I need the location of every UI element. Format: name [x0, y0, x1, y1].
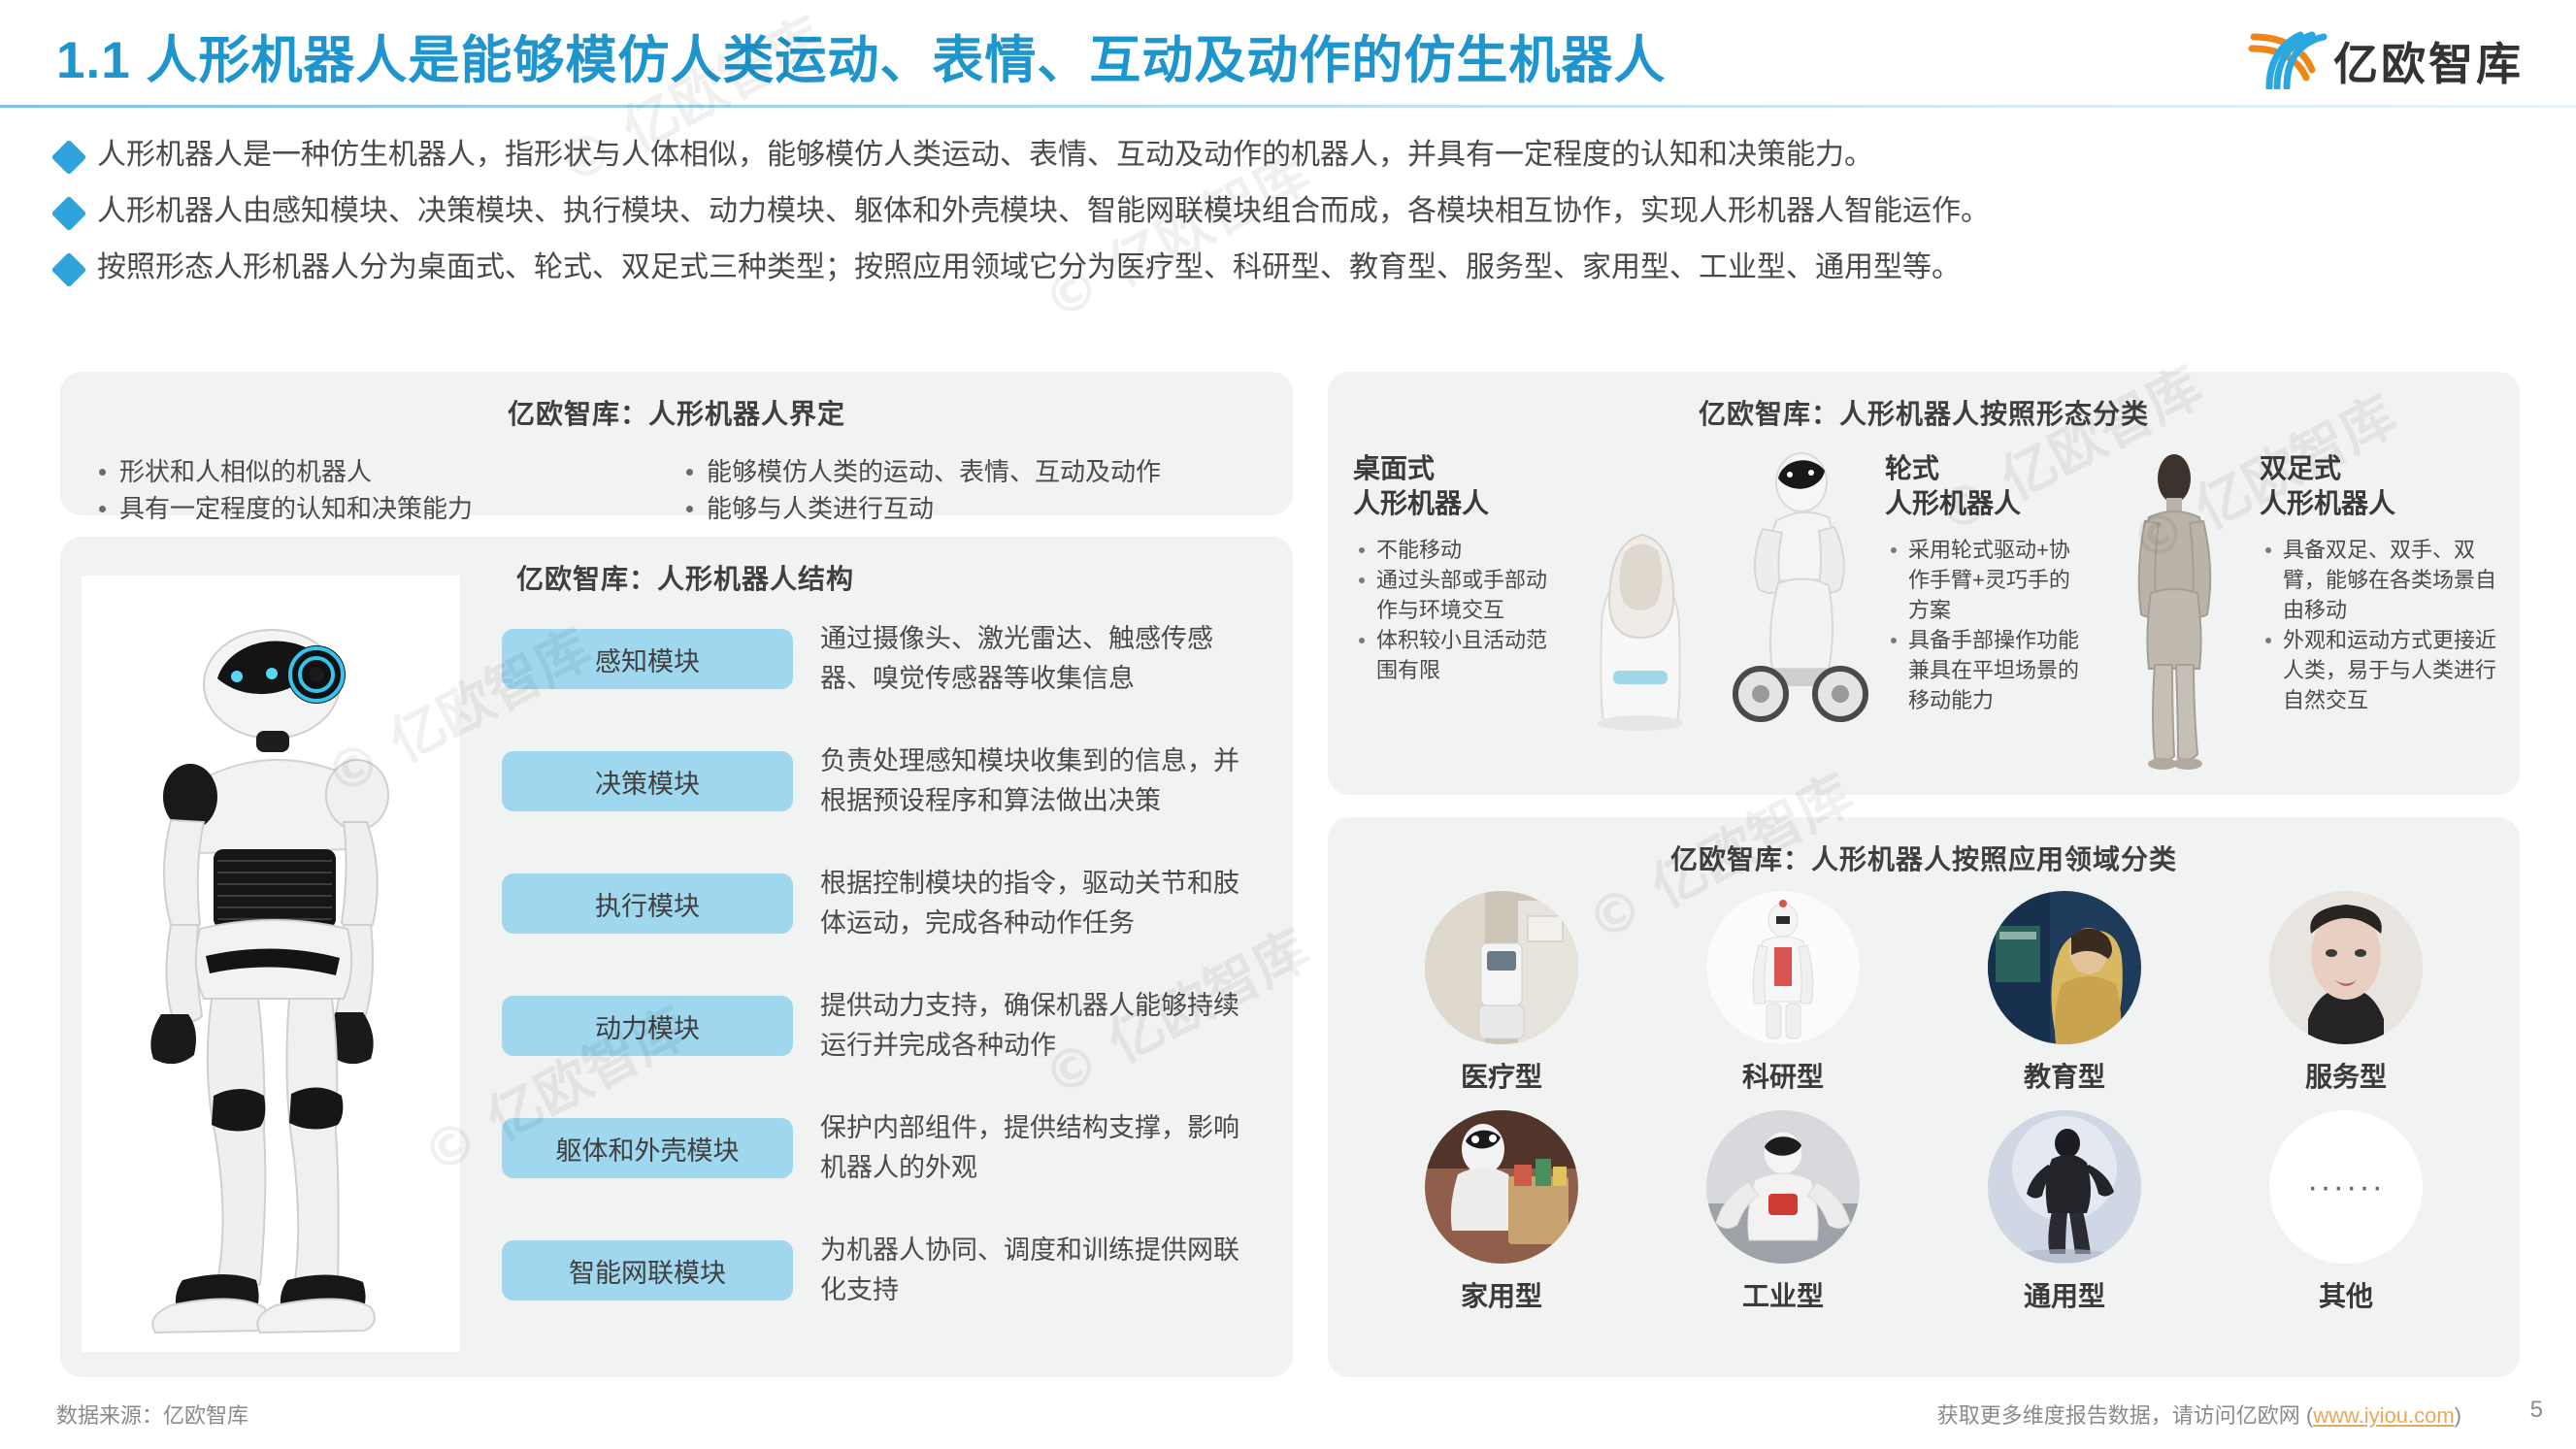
module-row: 感知模块 通过摄像头、激光雷达、触感传感器、嗅觉传感器等收集信息	[502, 619, 1264, 724]
footer-cta-suffix: )	[2455, 1403, 2461, 1428]
bullet-text: 按照形态人形机器人分为桌面式、轮式、双足式三种类型；按照应用领域它分为医疗型、科…	[97, 248, 1961, 287]
humanoid-robot-illustration	[82, 576, 460, 1352]
module-pill[interactable]: 躯体和外壳模块	[502, 1118, 793, 1178]
category-image-general	[1988, 1110, 2141, 1264]
list-item: 不能移动	[1353, 535, 1567, 565]
application-category-medical[interactable]: 医疗型	[1361, 891, 1642, 1095]
category-label: 教育型	[2024, 1056, 2105, 1095]
list-item: 能够与人类进行互动	[677, 490, 1264, 527]
iyiou-website-link[interactable]: www.iyiou.com	[2313, 1403, 2454, 1428]
module-row: 智能网联模块 为机器人协同、调度和训练提供网联化支持	[502, 1231, 1264, 1335]
structure-panel: 亿欧智库：人形机器人结构	[60, 537, 1293, 1377]
type-name-line2: 人形机器人	[1885, 486, 2089, 521]
category-label: 科研型	[1742, 1056, 1824, 1095]
page-title: 1.1 人形机器人是能够模仿人类运动、表情、互动及动作的仿生机器人	[56, 19, 1666, 93]
category-label: 医疗型	[1461, 1056, 1542, 1095]
dot-bullet-icon	[1891, 638, 1897, 643]
module-list: 感知模块 通过摄像头、激光雷达、触感传感器、嗅觉传感器等收集信息 决策模块 负责…	[502, 619, 1264, 1353]
category-image-medical	[1425, 891, 1578, 1044]
category-label: 服务型	[2305, 1056, 2387, 1095]
definition-item-text: 能够模仿人类的运动、表情、互动及动作	[707, 453, 1161, 490]
feature-text: 外观和运动方式更接近人类，易于与人类进行自然交互	[2283, 625, 2500, 715]
feature-text: 通过头部或手部动作与环境交互	[1376, 565, 1567, 625]
module-row: 动力模块 提供动力支持，确保机器人能够持续运行并完成各种动作	[502, 986, 1264, 1091]
list-item: 通过头部或手部动作与环境交互	[1353, 565, 1567, 625]
list-item: 人形机器人由感知模块、决策模块、执行模块、动力模块、躯体和外壳模块、智能网联模块…	[56, 192, 2541, 231]
header-divider	[0, 105, 2576, 108]
module-pill[interactable]: 感知模块	[502, 629, 793, 689]
application-category-education[interactable]: 教育型	[1924, 891, 2205, 1095]
category-image-industrial	[1706, 1110, 1860, 1264]
module-description: 根据控制模块的指令，驱动关节和肢体运动，完成各种动作任务	[820, 864, 1264, 943]
feature-text: 具备双足、双手、双臂，能够在各类场景自由移动	[2283, 535, 2500, 625]
module-description: 通过摄像头、激光雷达、触感传感器、嗅觉传感器等收集信息	[820, 619, 1264, 699]
module-row: 躯体和外壳模块 保护内部组件，提供结构支撑，影响机器人的外观	[502, 1108, 1264, 1213]
application-panel: 亿欧智库：人形机器人按照应用领域分类 医疗型	[1328, 817, 2520, 1377]
category-label: 通用型	[2024, 1275, 2105, 1314]
panel-title: 亿欧智库：人形机器人按照形态分类	[1328, 393, 2520, 432]
dot-bullet-icon	[99, 506, 106, 512]
panel-title: 亿欧智库：人形机器人按照应用领域分类	[1328, 839, 2520, 877]
diamond-bullet-icon	[51, 252, 87, 288]
list-item: 外观和运动方式更接近人类，易于与人类进行自然交互	[2260, 625, 2500, 715]
list-item: 体积较小且活动范围有限	[1353, 625, 1567, 685]
category-image-research	[1706, 891, 1860, 1044]
type-name-line1: 双足式	[2260, 451, 2500, 486]
morphology-panel: 亿欧智库：人形机器人按照形态分类 桌面式 人形机器人 不能移动 通过头部或手部动…	[1328, 372, 2520, 795]
module-pill[interactable]: 动力模块	[502, 996, 793, 1056]
diamond-bullet-icon	[51, 196, 87, 232]
definition-item-text: 形状和人相似的机器人	[119, 453, 372, 490]
list-item: 能够模仿人类的运动、表情、互动及动作	[677, 453, 1264, 490]
dot-bullet-icon	[1359, 638, 1365, 643]
category-label: 工业型	[1742, 1275, 1824, 1314]
dot-bullet-icon	[1359, 577, 1365, 583]
dot-bullet-icon	[2265, 547, 2271, 553]
application-category-research[interactable]: 科研型	[1642, 891, 1924, 1095]
category-label: 其他	[2319, 1275, 2373, 1314]
list-item: 采用轮式驱动+协作手臂+灵巧手的方案	[1885, 535, 2089, 625]
footer-cta-prefix: 获取更多维度报告数据，请访问亿欧网 (	[1937, 1403, 2313, 1428]
dot-bullet-icon	[2265, 638, 2271, 643]
logo-wordmark: 亿欧智库	[2333, 29, 2524, 93]
page-number: 5	[2530, 1397, 2543, 1424]
list-item: 具备双足、双手、双臂，能够在各类场景自由移动	[2260, 535, 2500, 625]
wheeled-robot-image	[1712, 440, 1885, 787]
module-description: 为机器人协同、调度和训练提供网联化支持	[820, 1231, 1264, 1310]
category-label: 家用型	[1461, 1275, 1542, 1314]
bullet-text: 人形机器人是一种仿生机器人，指形状与人体相似，能够模仿人类运动、表情、互动及动作…	[97, 136, 1873, 175]
definition-right-column: 能够模仿人类的运动、表情、互动及动作 能够与人类进行互动	[677, 453, 1264, 527]
intro-bullet-list: 人形机器人是一种仿生机器人，指形状与人体相似，能够模仿人类运动、表情、互动及动作…	[56, 136, 2541, 305]
feature-text: 体积较小且活动范围有限	[1376, 625, 1567, 685]
footer-cta: 获取更多维度报告数据，请访问亿欧网 (www.iyiou.com)	[1937, 1399, 2461, 1430]
application-category-other[interactable]: ······ 其他	[2205, 1110, 2487, 1314]
list-item: 具有一定程度的认知和决策能力	[89, 490, 677, 527]
module-description: 提供动力支持，确保机器人能够持续运行并完成各种动作	[820, 986, 1264, 1066]
data-source-note: 数据来源：亿欧智库	[56, 1399, 248, 1430]
dot-bullet-icon	[99, 469, 106, 476]
type-name-line2: 人形机器人	[1353, 486, 1567, 521]
dot-bullet-icon	[1891, 547, 1897, 553]
application-category-industrial[interactable]: 工业型	[1642, 1110, 1924, 1314]
category-image-education	[1988, 891, 2141, 1044]
dot-bullet-icon	[686, 506, 693, 512]
panel-title: 亿欧智库：人形机器人界定	[60, 393, 1293, 432]
application-category-general[interactable]: 通用型	[1924, 1110, 2205, 1314]
dot-bullet-icon	[1359, 547, 1365, 553]
category-image-home	[1425, 1110, 1578, 1264]
morphology-type-desktop: 桌面式 人形机器人 不能移动 通过头部或手部动作与环境交互 体积较小且活动范围有…	[1328, 440, 1567, 787]
application-category-home[interactable]: 家用型	[1361, 1110, 1642, 1314]
category-image-other: ······	[2269, 1110, 2423, 1264]
dot-bullet-icon	[686, 469, 693, 476]
list-item: 按照形态人形机器人分为桌面式、轮式、双足式三种类型；按照应用领域它分为医疗型、科…	[56, 248, 2541, 287]
application-category-service[interactable]: 服务型	[2205, 891, 2487, 1095]
list-item: 人形机器人是一种仿生机器人，指形状与人体相似，能够模仿人类运动、表情、互动及动作…	[56, 136, 2541, 175]
definition-item-text: 具有一定程度的认知和决策能力	[119, 490, 473, 527]
brand-logo: 亿欧智库	[2240, 23, 2531, 89]
type-name-line1: 轮式	[1885, 451, 2089, 486]
biped-robot-image	[2089, 440, 2260, 787]
module-description: 负责处理感知模块收集到的信息，并根据预设程序和算法做出决策	[820, 741, 1264, 821]
diamond-bullet-icon	[51, 140, 87, 176]
feature-text: 具备手部操作功能兼具在平坦场景的移动能力	[1908, 625, 2089, 715]
module-description: 保护内部组件，提供结构支撑，影响机器人的外观	[820, 1108, 1264, 1188]
morphology-type-wheeled: 轮式 人形机器人 采用轮式驱动+协作手臂+灵巧手的方案 具备手部操作功能兼具在平…	[1885, 440, 2089, 787]
ellipsis-placeholder: ······	[2307, 1169, 2385, 1206]
morphology-type-biped: 双足式 人形机器人 具备双足、双手、双臂，能够在各类场景自由移动 外观和运动方式…	[2260, 440, 2520, 787]
list-item: 具备手部操作功能兼具在平坦场景的移动能力	[1885, 625, 2089, 715]
module-row: 执行模块 根据控制模块的指令，驱动关节和肢体运动，完成各种动作任务	[502, 864, 1264, 969]
definition-item-text: 能够与人类进行互动	[707, 490, 934, 527]
module-pill[interactable]: 决策模块	[502, 751, 793, 811]
module-row: 决策模块 负责处理感知模块收集到的信息，并根据预设程序和算法做出决策	[502, 741, 1264, 846]
type-name-line2: 人形机器人	[2260, 486, 2500, 521]
module-pill[interactable]: 智能网联模块	[502, 1240, 793, 1301]
feature-text: 采用轮式驱动+协作手臂+灵巧手的方案	[1908, 535, 2089, 625]
application-grid: 医疗型 科研型	[1361, 891, 2487, 1314]
feature-text: 不能移动	[1376, 535, 1462, 565]
definition-left-column: 形状和人相似的机器人 具有一定程度的认知和决策能力	[89, 453, 677, 527]
module-pill[interactable]: 执行模块	[502, 873, 793, 934]
category-image-service	[2269, 891, 2423, 1044]
type-name-line1: 桌面式	[1353, 451, 1567, 486]
desktop-robot-image	[1567, 440, 1712, 787]
definition-panel: 亿欧智库：人形机器人界定 形状和人相似的机器人 具有一定程度的认知和决策能力 能…	[60, 372, 1293, 515]
page-header: 1.1 人形机器人是能够模仿人类运动、表情、互动及动作的仿生机器人 亿欧智库	[0, 0, 2576, 109]
list-item: 形状和人相似的机器人	[89, 453, 677, 490]
bullet-text: 人形机器人由感知模块、决策模块、执行模块、动力模块、躯体和外壳模块、智能网联模块…	[97, 192, 1990, 231]
